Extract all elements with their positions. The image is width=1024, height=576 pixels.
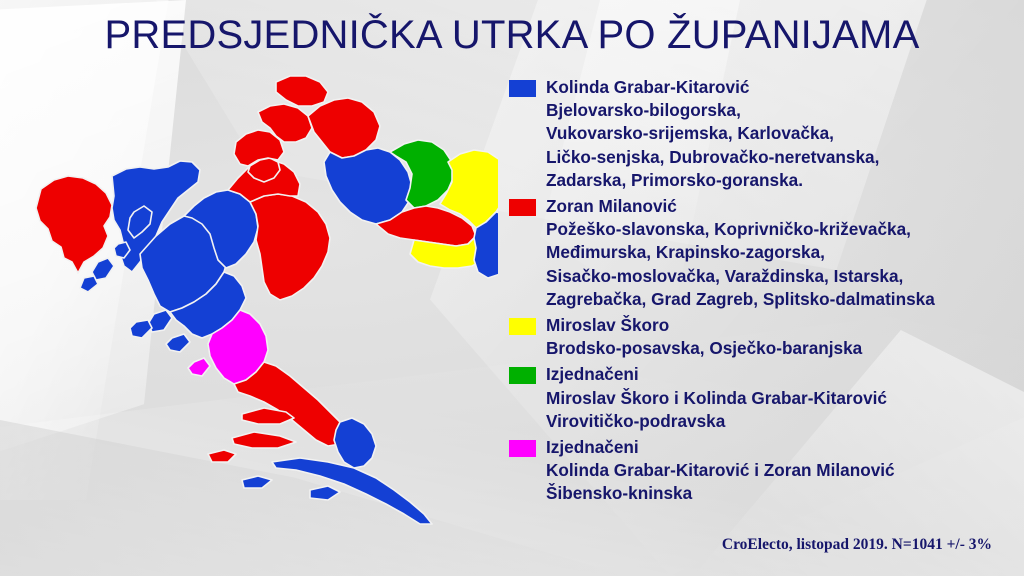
legend-entry[interactable]: Zoran Milanović Požeško-slavonska, Kopri… <box>509 195 1014 311</box>
legend: Kolinda Grabar-Kitarović Bjelovarsko-bil… <box>509 76 1014 509</box>
map-island <box>166 334 190 352</box>
legend-county-line: Ličko-senjska, Dubrovačko-neretvanska, <box>546 146 1014 169</box>
legend-swatch-red <box>509 199 536 216</box>
map-island <box>130 320 152 338</box>
map-island <box>242 476 272 488</box>
legend-county-line: Sisačko-moslovačka, Varaždinska, Istarsk… <box>546 265 1014 288</box>
legend-county-line: Šibensko-kninska <box>546 482 1014 505</box>
legend-swatch-blue <box>509 80 536 97</box>
slide-canvas: PREDSJEDNIČKA UTRKA PO ŽUPANIJAMA <box>0 0 1024 576</box>
legend-county-line: Virovitičko-podravska <box>546 410 1014 433</box>
map-island <box>232 432 296 448</box>
legend-county-line: Kolinda Grabar-Kitarović i Zoran Milanov… <box>546 459 1014 482</box>
legend-candidate-name: Izjednačeni <box>546 363 1014 386</box>
legend-county-line: Zadarska, Primorsko-goranska. <box>546 169 1014 192</box>
map-island <box>92 258 114 280</box>
croatia-county-map <box>28 66 498 536</box>
map-region-istarska[interactable] <box>36 176 112 273</box>
legend-county-line: Zagrebačka, Grad Zagreb, Splitsko-dalmat… <box>546 288 1014 311</box>
legend-entry[interactable]: Kolinda Grabar-Kitarović Bjelovarsko-bil… <box>509 76 1014 192</box>
legend-entry-text: Zoran Milanović Požeško-slavonska, Kopri… <box>546 195 1014 311</box>
legend-county-line: Brodsko-posavska, Osječko-baranjska <box>546 337 1014 360</box>
slide-title: PREDSJEDNIČKA UTRKA PO ŽUPANIJAMA <box>0 14 1024 57</box>
map-region-sisacko-moslovacka[interactable] <box>250 194 330 300</box>
map-island <box>208 450 236 462</box>
legend-entry-text: Kolinda Grabar-Kitarović Bjelovarsko-bil… <box>546 76 1014 192</box>
source-credit: CroElecto, listopad 2019. N=1041 +/- 3% <box>722 536 992 554</box>
map-island <box>272 458 432 524</box>
map-region-medimurska[interactable] <box>276 76 328 106</box>
legend-swatch-green <box>509 367 536 384</box>
map-island <box>310 486 340 500</box>
legend-entry[interactable]: Izjednačeni Miroslav Škoro i Kolinda Gra… <box>509 363 1014 433</box>
map-island <box>80 276 98 292</box>
legend-county-line: Međimurska, Krapinsko-zagorska, <box>546 241 1014 264</box>
legend-candidate-name: Izjednačeni <box>546 436 1014 459</box>
map-region-dubrovacko-neretvanska[interactable] <box>334 418 376 468</box>
legend-county-line: Miroslav Škoro i Kolinda Grabar-Kitarovi… <box>546 387 1014 410</box>
legend-entry[interactable]: Izjednačeni Kolinda Grabar-Kitarović i Z… <box>509 436 1014 506</box>
legend-county-line: Vukovarsko-srijemska, Karlovačka, <box>546 122 1014 145</box>
map-island <box>188 358 210 376</box>
legend-entry-text: Miroslav Škoro Brodsko-posavska, Osječko… <box>546 314 1014 360</box>
map-region-bjelovarsko-bilogorska[interactable] <box>324 148 412 224</box>
legend-candidate-name: Miroslav Škoro <box>546 314 1014 337</box>
legend-swatch-yellow <box>509 318 536 335</box>
legend-candidate-name: Zoran Milanović <box>546 195 1014 218</box>
legend-entry-text: Izjednačeni Kolinda Grabar-Kitarović i Z… <box>546 436 1014 506</box>
legend-entry-text: Izjednačeni Miroslav Škoro i Kolinda Gra… <box>546 363 1014 433</box>
legend-county-line: Požeško-slavonska, Koprivničko-križevačk… <box>546 218 1014 241</box>
legend-swatch-magenta <box>509 440 536 457</box>
legend-candidate-name: Kolinda Grabar-Kitarović <box>546 76 1014 99</box>
legend-entry[interactable]: Miroslav Škoro Brodsko-posavska, Osječko… <box>509 314 1014 360</box>
legend-county-line: Bjelovarsko-bilogorska, <box>546 99 1014 122</box>
